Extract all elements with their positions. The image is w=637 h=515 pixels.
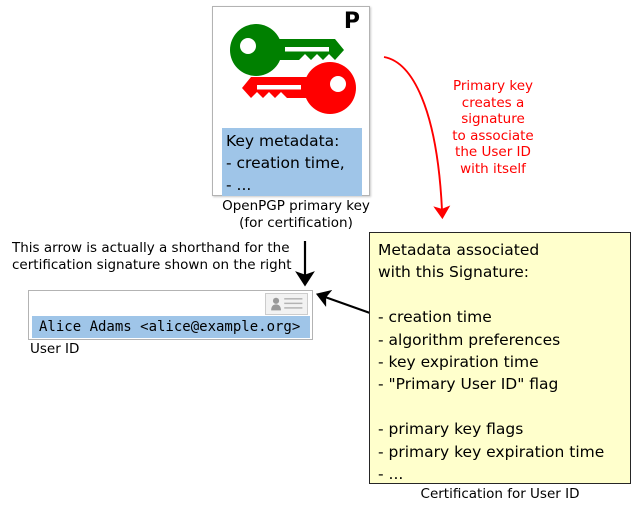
certification-heading-line: Metadata associated	[378, 239, 630, 261]
shorthand-note-line: This arrow is actually a shorthand for t…	[12, 240, 302, 257]
certification-item: - key expiration time	[378, 351, 630, 373]
red-annotation-text: Primary key creates a signature to assoc…	[437, 78, 549, 178]
primary-key-caption-line: (for certification)	[212, 215, 380, 232]
user-id-caption: User ID	[30, 341, 79, 357]
certification-item: - creation time	[378, 306, 630, 328]
user-id-value: Alice Adams <alice@example.org>	[32, 316, 310, 338]
primary-key-caption: OpenPGP primary key (for certification)	[212, 198, 380, 231]
certification-spacer	[378, 284, 630, 306]
certification-item: - "Primary User ID" flag	[378, 373, 630, 395]
primary-key-caption-line: OpenPGP primary key	[212, 198, 380, 215]
certification-item: - algorithm preferences	[378, 329, 630, 351]
certification-item: - primary key expiration time	[378, 441, 630, 463]
red-annotation-line: signature	[437, 111, 549, 128]
red-annotation-line: creates a	[437, 95, 549, 112]
red-annotation-line: with itself	[437, 161, 549, 178]
certification-item: - primary key flags	[378, 418, 630, 440]
certification-caption: Certification for User ID	[369, 486, 631, 502]
primary-key-box: P Key metadata: - creation time, - ...	[212, 6, 370, 196]
key-metadata-panel: Key metadata: - creation time, - ...	[222, 128, 362, 196]
shorthand-note-text: This arrow is actually a shorthand for t…	[12, 240, 302, 274]
id-card-icon	[265, 293, 308, 315]
red-curved-arrow	[384, 57, 442, 210]
certification-heading-line: with this Signature:	[378, 261, 630, 283]
certification-spacer	[378, 396, 630, 418]
shorthand-note-line: certification signature shown on the rig…	[12, 257, 302, 274]
certification-item: - ...	[378, 463, 630, 485]
red-annotation-line: Primary key	[437, 78, 549, 95]
red-annotation-line: to associate	[437, 128, 549, 145]
key-metadata-line: Key metadata:	[226, 130, 358, 152]
key-pair-icons	[223, 19, 363, 119]
red-annotation-line: the User ID	[437, 144, 549, 161]
key-metadata-line: - creation time,	[226, 152, 358, 174]
user-id-box: Alice Adams <alice@example.org>	[28, 290, 313, 340]
key-metadata-line: - ...	[226, 174, 358, 196]
black-diagonal-arrow	[325, 297, 370, 313]
certification-box: Metadata associated with this Signature:…	[369, 232, 631, 484]
